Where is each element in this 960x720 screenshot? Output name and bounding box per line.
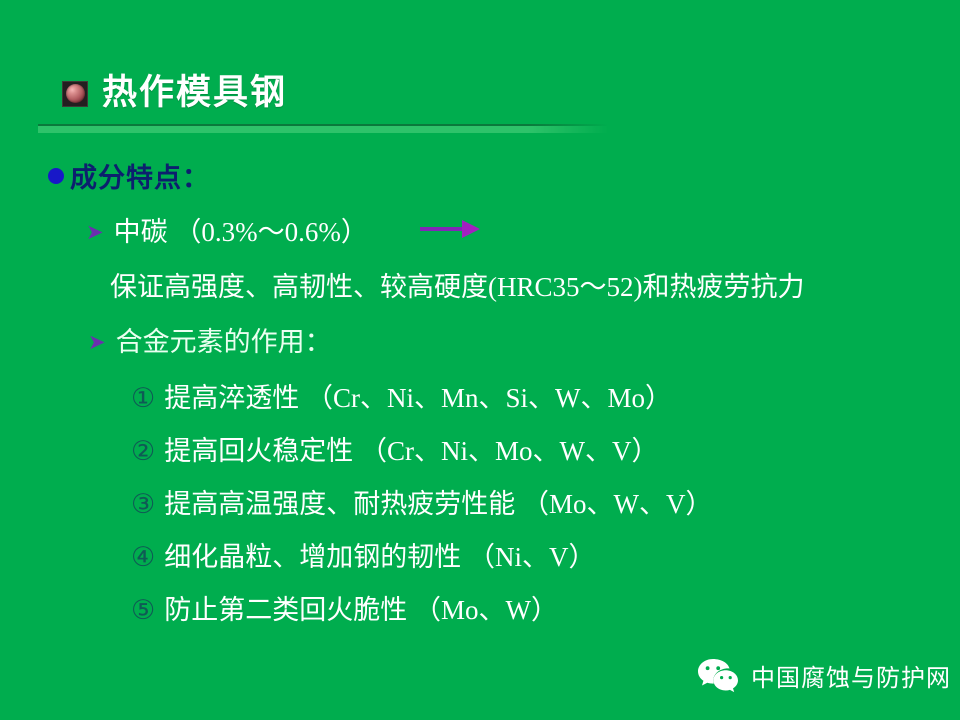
blue-dot-icon <box>48 168 64 184</box>
list-item-label: 提高淬透性 （Cr、Ni、Mn、Si、W、Mo） <box>164 376 672 415</box>
carbon-detail-text: 保证高强度、高韧性、较高硬度(HRC35～52)和热疲劳抗力 <box>110 265 805 304</box>
numbered-effects-list: ① 提高淬透性 （Cr、Ni、Mn、Si、W、Mo） ② 提高回火稳定性 （Cr… <box>131 376 891 641</box>
page-title: 热作模具钢 <box>102 76 287 111</box>
list-item-marker: ⑤ <box>131 595 155 626</box>
bullet-point-carbon-label: 中碳 （0.3%～0.6%） <box>114 210 368 249</box>
list-item-label: 提高回火稳定性 （Cr、Ni、Mo、W、V） <box>164 429 658 468</box>
list-item-marker: ③ <box>131 489 155 520</box>
list-item: ⑤ 防止第二类回火脆性 （Mo、W） <box>131 588 891 641</box>
footer-label: 中国腐蚀与防护网 <box>751 658 951 693</box>
red-orb-icon <box>62 81 88 107</box>
list-item: ④ 细化晶粒、增加钢的韧性 （Ni、V） <box>131 535 891 588</box>
purple-arrow-bullet-icon: ➤ <box>88 332 106 353</box>
section-heading-label: 成分特点： <box>70 156 210 195</box>
purple-arrow-bullet-icon: ➤ <box>86 222 104 243</box>
bullet-point-alloy-label: 合金元素的作用： <box>116 320 332 359</box>
slide-canvas: 热作模具钢 成分特点： ➤ 中碳 （0.3%～0.6%） 保证高强度、高韧性、较… <box>0 0 960 720</box>
bullet-point-carbon: ➤ 中碳 （0.3%～0.6%） <box>86 210 368 249</box>
section-heading: 成分特点： <box>48 156 210 195</box>
list-item-label: 防止第二类回火脆性 （Mo、W） <box>164 588 558 627</box>
list-item: ③ 提高高温强度、耐热疲劳性能 （Mo、W、V） <box>131 482 891 535</box>
list-item: ② 提高回火稳定性 （Cr、Ni、Mo、W、V） <box>131 429 891 482</box>
wechat-icon <box>696 656 740 694</box>
list-item-marker: ② <box>131 436 155 467</box>
title-divider <box>38 124 608 133</box>
list-item-label: 提高高温强度、耐热疲劳性能 （Mo、W、V） <box>164 482 712 521</box>
footer-watermark: 中国腐蚀与防护网 <box>696 656 951 694</box>
list-item-marker: ① <box>131 383 155 414</box>
list-item: ① 提高淬透性 （Cr、Ni、Mn、Si、W、Mo） <box>131 376 891 429</box>
list-item-marker: ④ <box>131 542 155 573</box>
purple-right-arrow-icon <box>420 218 482 240</box>
list-item-label: 细化晶粒、增加钢的韧性 （Ni、V） <box>164 535 595 574</box>
slide-title-row: 热作模具钢 <box>62 76 287 111</box>
bullet-point-alloy: ➤ 合金元素的作用： <box>88 320 332 359</box>
